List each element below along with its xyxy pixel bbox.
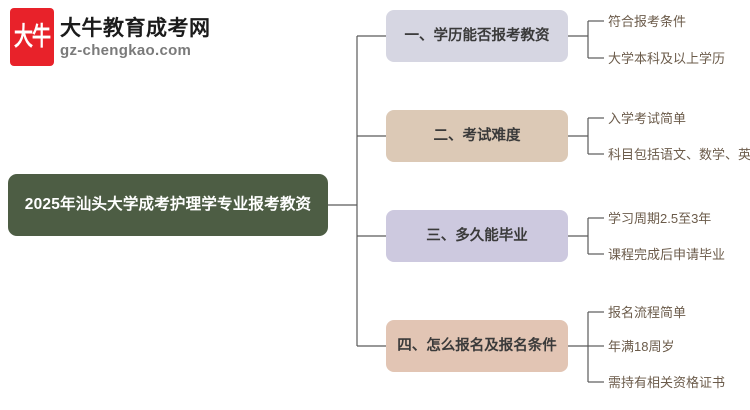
- leaf-4-2: 年满18周岁: [608, 339, 674, 355]
- bull-logo-icon: 大牛: [10, 8, 54, 66]
- leaf-3-2: 课程完成后申请毕业: [608, 247, 725, 263]
- root-node[interactable]: 2025年汕头大学成考护理学专业报考教资: [8, 174, 328, 236]
- leaf-2-2: 科目包括语文、数学、英语: [608, 147, 750, 163]
- branch-node-4[interactable]: 四、怎么报名及报名条件: [386, 320, 568, 372]
- leaf-1-1: 符合报考条件: [608, 14, 686, 30]
- bull-logo-text: 大牛: [14, 24, 50, 50]
- leaf-2-1: 入学考试简单: [608, 111, 686, 127]
- mindmap-canvas: 大牛 大牛教育成考网 gz-chengkao.com: [0, 0, 750, 410]
- logo-subtitle: gz-chengkao.com: [60, 42, 191, 59]
- branch-node-2[interactable]: 二、考试难度: [386, 110, 568, 162]
- branch-node-3[interactable]: 三、多久能毕业: [386, 210, 568, 262]
- leaf-3-1: 学习周期2.5至3年: [608, 211, 711, 227]
- logo-title: 大牛教育成考网: [60, 12, 211, 42]
- branch-node-1[interactable]: 一、学历能否报考教资: [386, 10, 568, 62]
- site-logo: 大牛 大牛教育成考网 gz-chengkao.com: [10, 8, 220, 70]
- leaf-1-2: 大学本科及以上学历: [608, 51, 725, 67]
- leaf-4-3: 需持有相关资格证书: [608, 375, 725, 391]
- leaf-4-1: 报名流程简单: [608, 305, 686, 321]
